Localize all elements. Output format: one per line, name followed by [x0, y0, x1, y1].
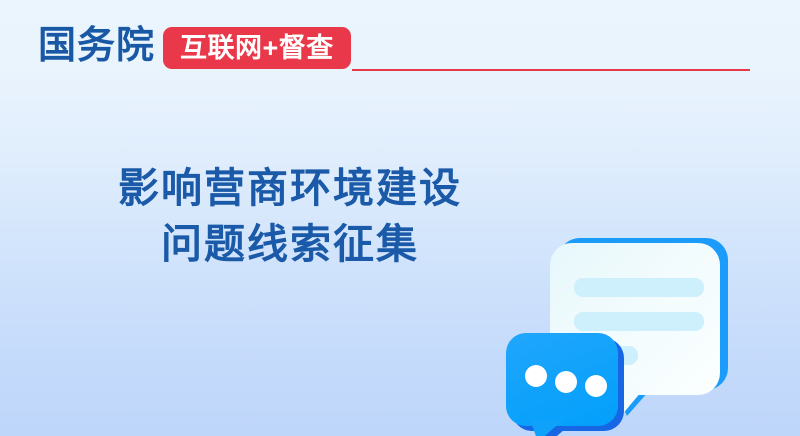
header-divider-rule: [352, 69, 750, 71]
government-banner: 国务院 互联网+督查 影响营商环境建设 问题线索征集: [0, 0, 800, 436]
large-bubble-text-line-2: [574, 312, 704, 331]
page-title-line-2: 问题线索征集: [60, 216, 520, 272]
typing-dot-3-icon: [585, 375, 607, 397]
large-bubble-text-line-1: [574, 278, 704, 297]
program-badge-label: 互联网+督查: [180, 27, 334, 69]
typing-dot-2-icon: [555, 371, 577, 393]
organization-title: 国务院: [38, 24, 155, 68]
speech-bubbles-illustration: [480, 200, 800, 436]
small-speech-bubble-tail: [530, 419, 564, 436]
banner-header: 国务院 互联网+督查: [0, 0, 800, 96]
program-badge: 互联网+督查: [163, 27, 351, 69]
page-title: 影响营商环境建设 问题线索征集: [60, 160, 520, 272]
page-title-line-1: 影响营商环境建设: [60, 160, 520, 216]
typing-dot-1-icon: [525, 365, 547, 387]
